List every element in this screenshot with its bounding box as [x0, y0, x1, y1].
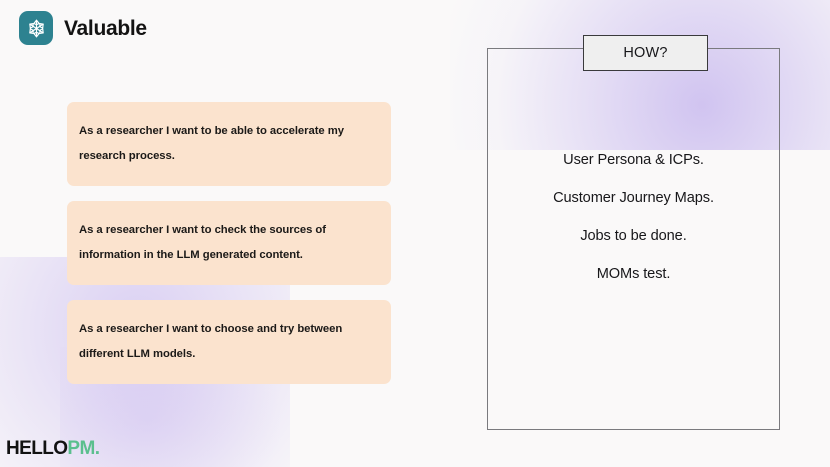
hellopm-footer-logo: HELLOPM.: [6, 439, 99, 458]
user-story-text: As a researcher I want to choose and try…: [79, 317, 372, 367]
how-panel-item-list: User Persona & ICPs. Customer Journey Ma…: [487, 148, 780, 286]
footer-logo-dot: .: [95, 439, 100, 458]
how-panel-item: User Persona & ICPs.: [563, 148, 704, 172]
brand-header: Valuable: [19, 11, 147, 45]
how-panel-item: MOMs test.: [597, 262, 671, 286]
user-story-text: As a researcher I want to be able to acc…: [79, 119, 372, 169]
footer-logo-primary: HELLO: [6, 439, 67, 458]
user-story-card: As a researcher I want to check the sour…: [67, 201, 391, 285]
user-story-card: As a researcher I want to choose and try…: [67, 300, 391, 384]
user-story-card: As a researcher I want to be able to acc…: [67, 102, 391, 186]
valuable-logo-icon: [19, 11, 53, 45]
footer-logo-accent: PM: [67, 439, 94, 458]
brand-name: Valuable: [64, 18, 147, 39]
user-story-list: As a researcher I want to be able to acc…: [67, 102, 391, 384]
how-panel-label-text: HOW?: [623, 45, 667, 61]
how-panel-item: Customer Journey Maps.: [553, 186, 714, 210]
how-panel-label: HOW?: [583, 35, 708, 71]
how-panel-item: Jobs to be done.: [580, 224, 686, 248]
user-story-text: As a researcher I want to check the sour…: [79, 218, 372, 268]
